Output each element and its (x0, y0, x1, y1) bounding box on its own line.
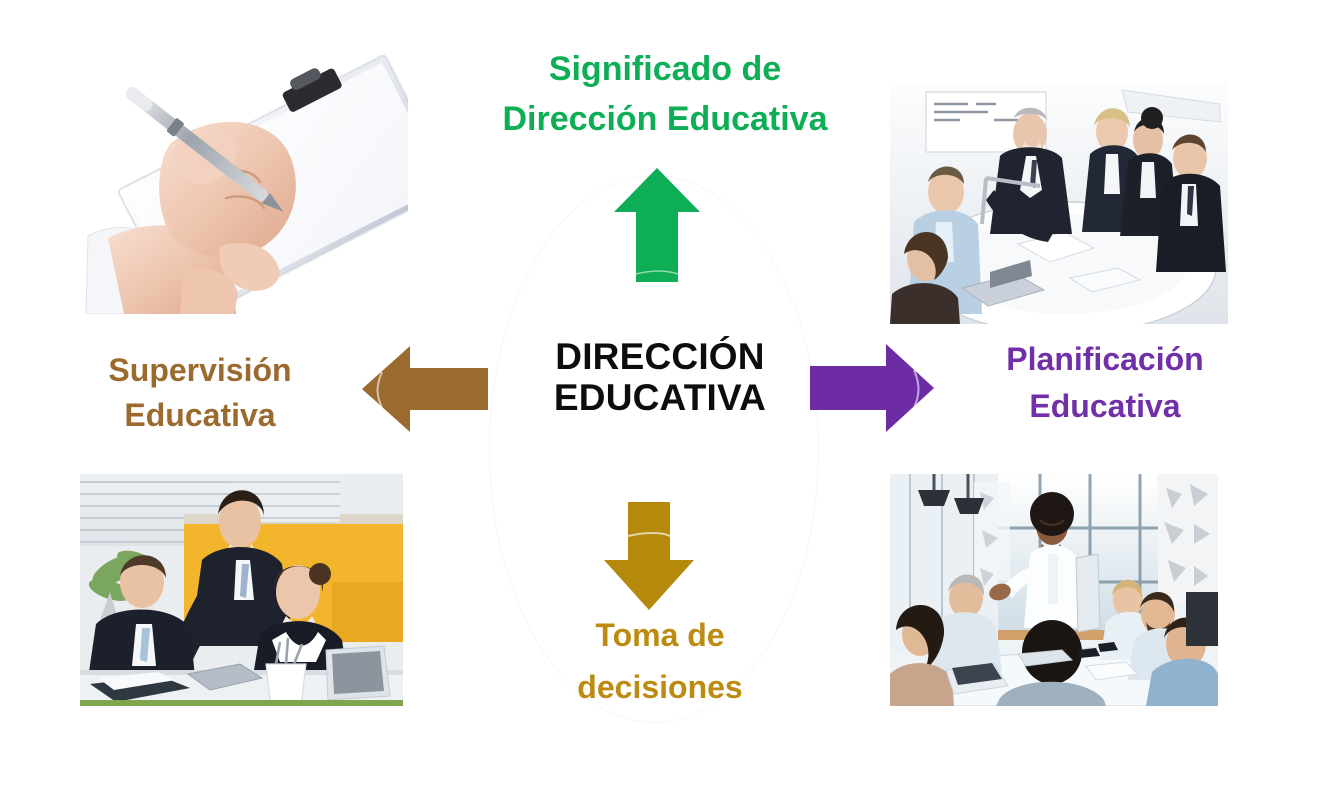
boardroom-meeting-photo (890, 82, 1228, 324)
node-label-significado: Significado de Dirección Educativa (420, 44, 910, 145)
node-label-significado-line1: Significado de (420, 44, 910, 94)
presentation-to-team-photo (890, 474, 1218, 706)
hand-writing-on-clipboard-photo (78, 32, 408, 314)
node-label-toma-de-decisiones: Toma de decisiones (505, 610, 815, 714)
center-label-line1: DIRECCIÓN (505, 336, 815, 377)
node-label-toma-line2: decisiones (505, 662, 815, 714)
diagram-canvas: Significado de Dirección Educativa Super… (0, 0, 1323, 793)
node-label-toma-line1: Toma de (505, 610, 815, 662)
node-label-planificacion-line2: Educativa (935, 383, 1275, 430)
node-label-significado-line2: Dirección Educativa (420, 94, 910, 144)
node-label-supervision-line1: Supervisión (40, 348, 360, 393)
node-label-supervision: Supervisión Educativa (40, 348, 360, 439)
arrow-left-icon (362, 346, 488, 432)
center-label-line2: EDUCATIVA (505, 377, 815, 418)
arrow-right-icon (810, 344, 934, 432)
arrow-down-icon (604, 502, 694, 610)
node-label-supervision-line2: Educativa (40, 393, 360, 438)
node-label-planificacion-line1: Planificación (935, 336, 1275, 383)
node-label-planificacion: Planificación Educativa (935, 336, 1275, 431)
arrow-up-icon (614, 168, 700, 282)
office-team-at-desk-photo (80, 474, 403, 706)
center-label-direccion-educativa: DIRECCIÓN EDUCATIVA (505, 336, 815, 419)
